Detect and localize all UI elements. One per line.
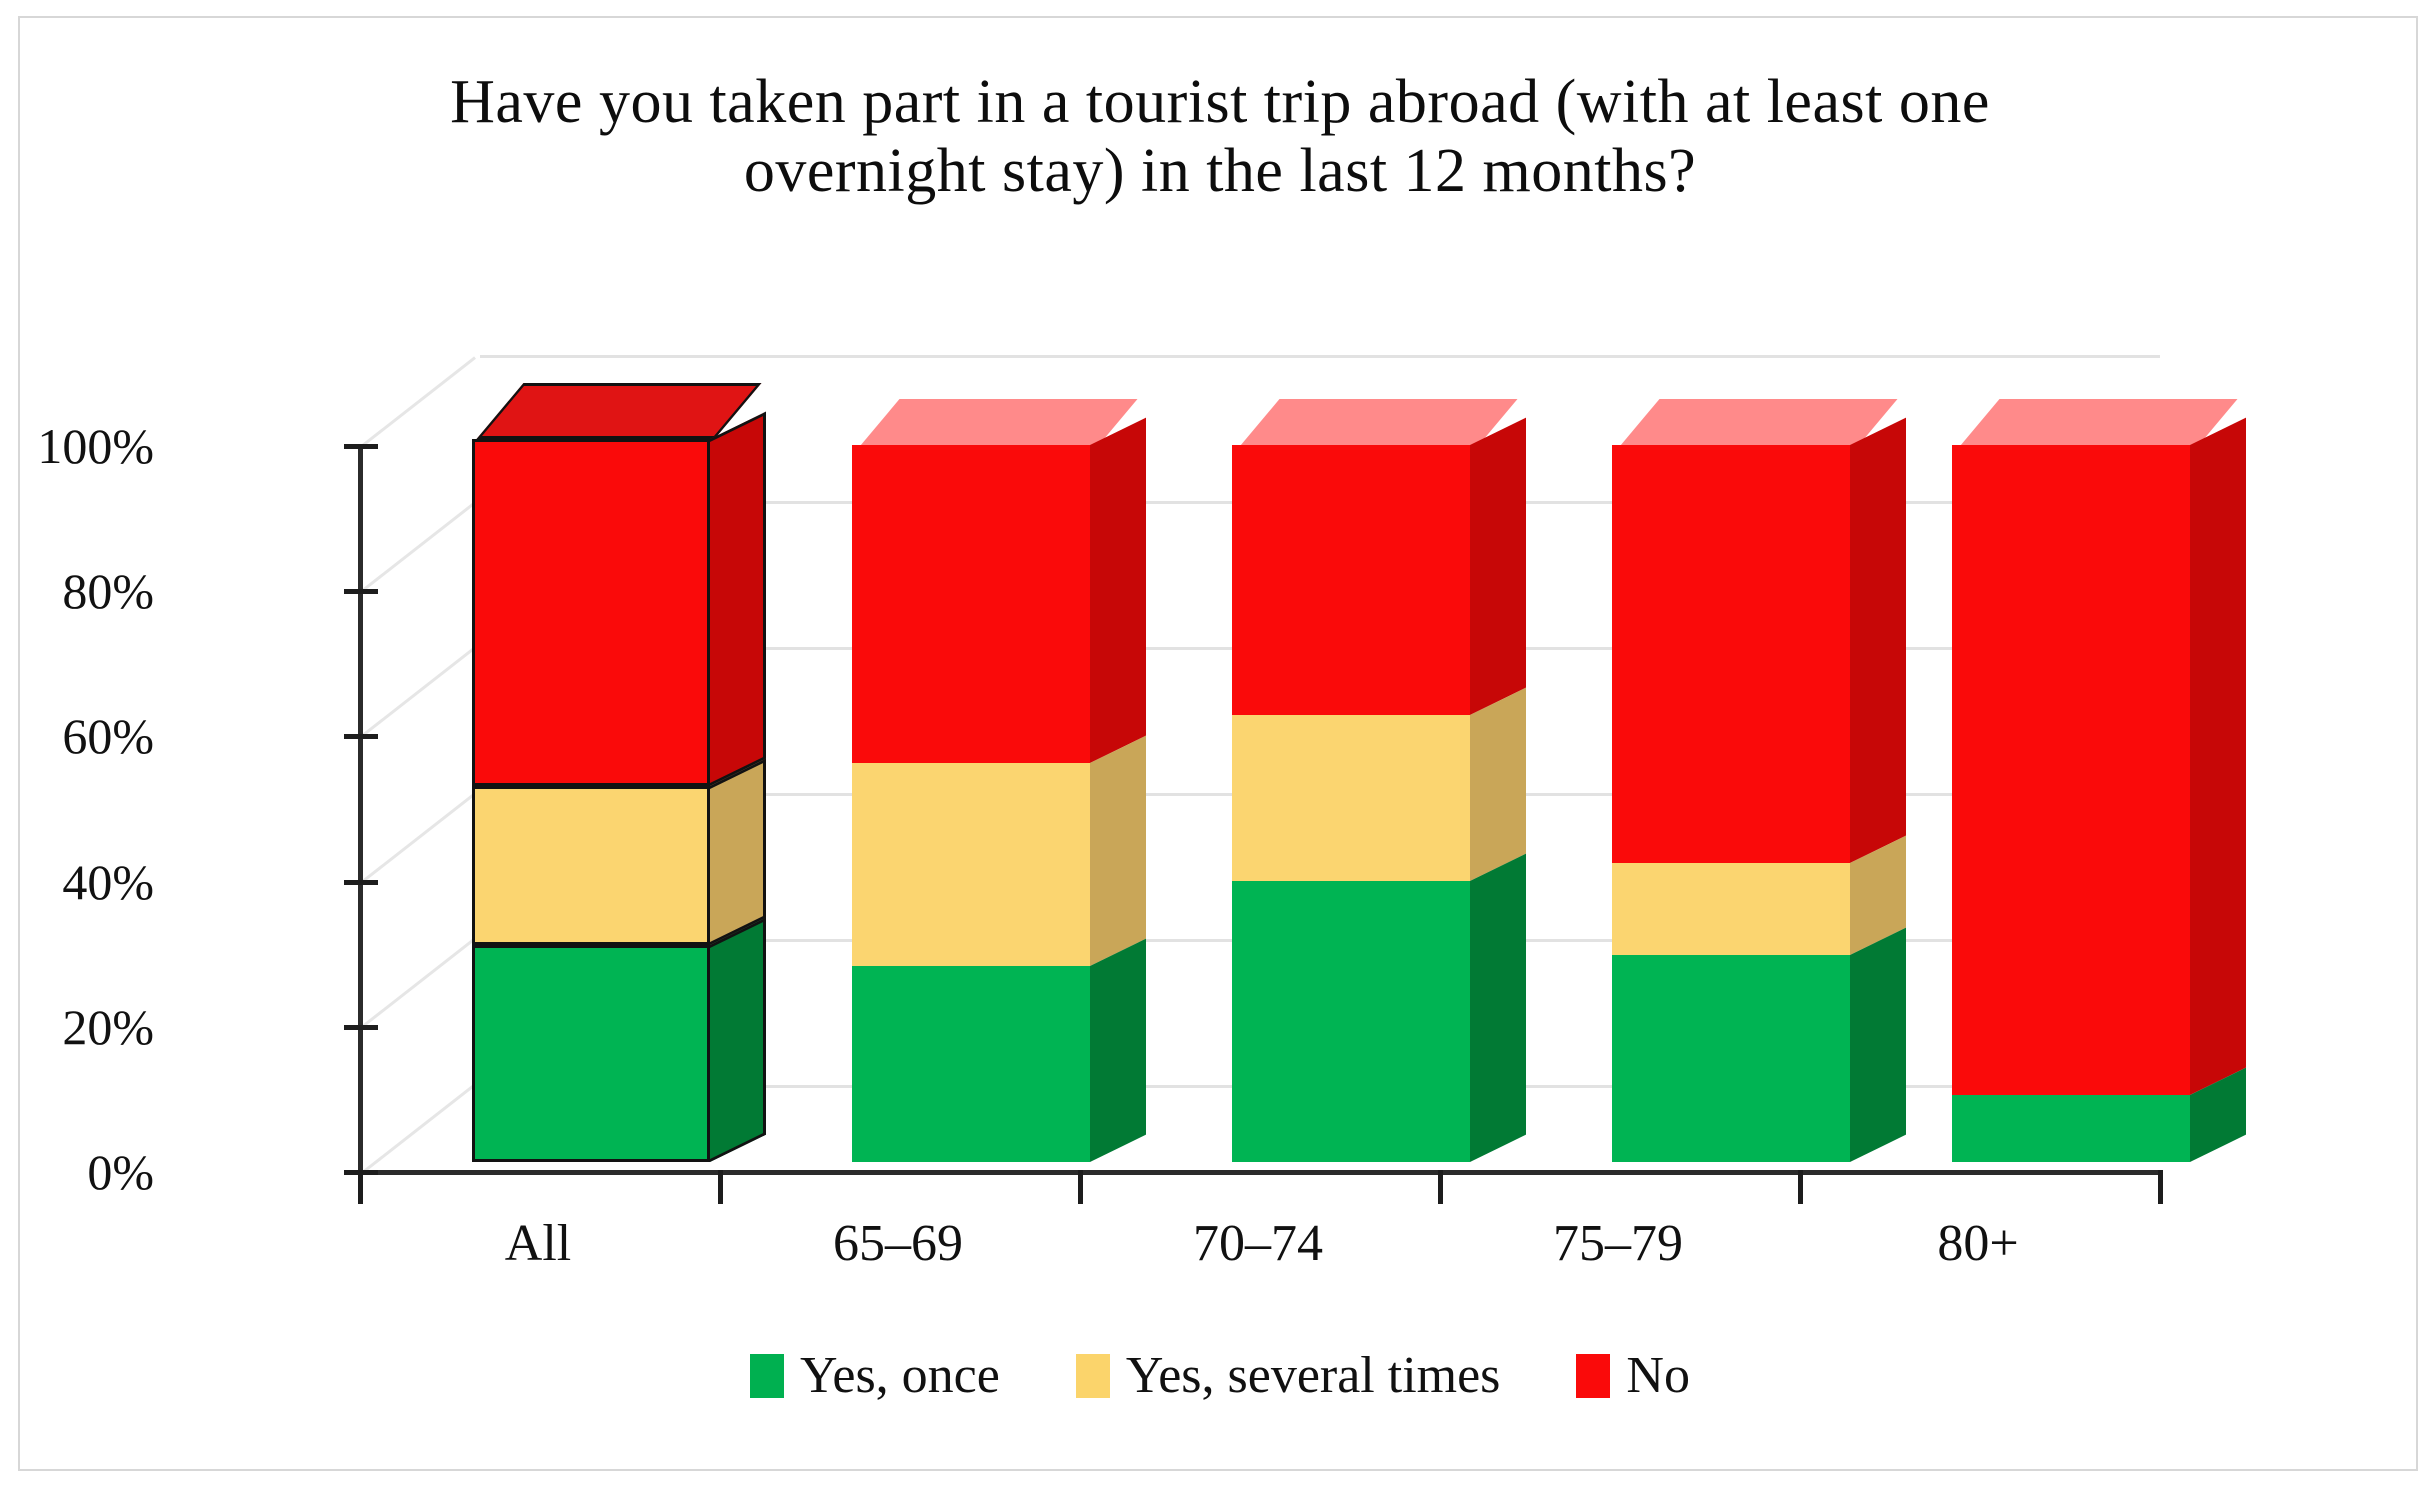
segment-front-face: [1612, 955, 1850, 1162]
bar-segment-yes-once[interactable]: [852, 966, 1090, 1162]
segment-top-face: [477, 383, 762, 439]
y-tick-label-0: 0%: [0, 1143, 154, 1201]
legend-label-yes-several-times: Yes, several times: [1126, 1346, 1501, 1405]
x-label-all: All: [373, 1214, 703, 1273]
depth-line-20: [359, 937, 476, 1029]
depth-line-60: [359, 646, 476, 738]
y-tick-label-80: 80%: [0, 562, 154, 620]
y-tick-60: [344, 734, 378, 739]
segment-front-face: [472, 439, 710, 786]
segment-front-face: [472, 786, 710, 945]
segment-side-face: [1470, 715, 1526, 881]
segment-front-face: [1952, 1095, 2190, 1162]
y-tick-label-60: 60%: [0, 707, 154, 765]
x-axis-line: [358, 1170, 2158, 1175]
y-tick-label-100: 100%: [0, 417, 154, 475]
legend-swatch-red-icon: [1576, 1354, 1610, 1398]
segment-front-face: [472, 945, 710, 1162]
depth-line-100: [359, 356, 476, 448]
depth-line-80: [359, 501, 476, 593]
legend-swatch-green-icon: [750, 1354, 784, 1398]
bar-segment-yes-several[interactable]: [1232, 715, 1470, 881]
segment-front-face: [852, 966, 1090, 1162]
x-tick-1: [718, 1170, 723, 1204]
gridline-100: [480, 355, 2160, 358]
segment-side-face: [1090, 966, 1146, 1162]
bar-segment-yes-once[interactable]: [1232, 881, 1470, 1162]
depth-line-40: [359, 792, 476, 884]
bar-segment-yes-several[interactable]: [1612, 863, 1850, 955]
y-axis-line: [358, 444, 363, 1176]
legend-label-yes-once: Yes, once: [800, 1346, 1000, 1405]
segment-side-face: [1090, 763, 1146, 966]
segment-front-face: [1232, 715, 1470, 881]
bar-segment-yes-several[interactable]: [852, 763, 1090, 966]
legend-item-yes-several-times[interactable]: Yes, several times: [1076, 1346, 1501, 1405]
bar-segment-no[interactable]: [1232, 445, 1470, 715]
segment-side-face: [1090, 445, 1146, 763]
x-tick-4: [1798, 1170, 1803, 1204]
bar-segment-yes-once[interactable]: [1612, 955, 1850, 1162]
legend-label-no: No: [1626, 1346, 1690, 1405]
segment-side-face: [1850, 445, 1906, 863]
x-tick-0: [358, 1170, 363, 1204]
segment-side-face: [2190, 1095, 2246, 1162]
segment-side-face: [710, 945, 766, 1162]
segment-front-face: [1612, 863, 1850, 955]
bar-segment-no[interactable]: [1952, 445, 2190, 1095]
depth-line-0: [359, 1083, 476, 1175]
y-tick-80: [344, 589, 378, 594]
bar-segment-no[interactable]: [472, 439, 710, 786]
segment-front-face: [1952, 445, 2190, 1095]
segment-side-face: [1850, 955, 1906, 1162]
chart-figure: Have you taken part in a tourist trip ab…: [18, 16, 2418, 1471]
x-tick-2: [1078, 1170, 1083, 1204]
x-label-65-69: 65–69: [733, 1214, 1063, 1273]
bar-segment-no[interactable]: [1612, 445, 1850, 863]
x-label-75-79: 75–79: [1453, 1214, 1783, 1273]
segment-side-face: [1470, 445, 1526, 715]
segment-front-face: [1232, 445, 1470, 715]
x-tick-5: [2158, 1170, 2163, 1204]
x-label-70-74: 70–74: [1093, 1214, 1423, 1273]
segment-side-face: [710, 439, 766, 786]
y-tick-40: [344, 880, 378, 885]
x-tick-3: [1438, 1170, 1443, 1204]
y-tick-label-40: 40%: [0, 853, 154, 911]
y-tick-label-20: 20%: [0, 998, 154, 1056]
plot-area: 100% 80% 60% 40% 20% 0% All 65–69 70–74 …: [20, 18, 2420, 1473]
y-tick-20: [344, 1025, 378, 1030]
bar-segment-yes-once[interactable]: [1952, 1095, 2190, 1162]
legend-item-no[interactable]: No: [1576, 1346, 1690, 1405]
segment-side-face: [1470, 881, 1526, 1162]
segment-front-face: [852, 763, 1090, 966]
x-label-80plus: 80+: [1813, 1214, 2143, 1273]
segment-front-face: [1232, 881, 1470, 1162]
segment-front-face: [852, 445, 1090, 763]
segment-side-face: [2190, 445, 2246, 1095]
bar-segment-yes-several[interactable]: [472, 786, 710, 945]
legend-swatch-yellow-icon: [1076, 1354, 1110, 1398]
segment-front-face: [1612, 445, 1850, 863]
bar-segment-no[interactable]: [852, 445, 1090, 763]
y-tick-100: [344, 444, 378, 449]
legend-item-yes-once[interactable]: Yes, once: [750, 1346, 1000, 1405]
bar-segment-yes-once[interactable]: [472, 945, 710, 1162]
chart-legend: Yes, once Yes, several times No: [20, 1346, 2420, 1405]
